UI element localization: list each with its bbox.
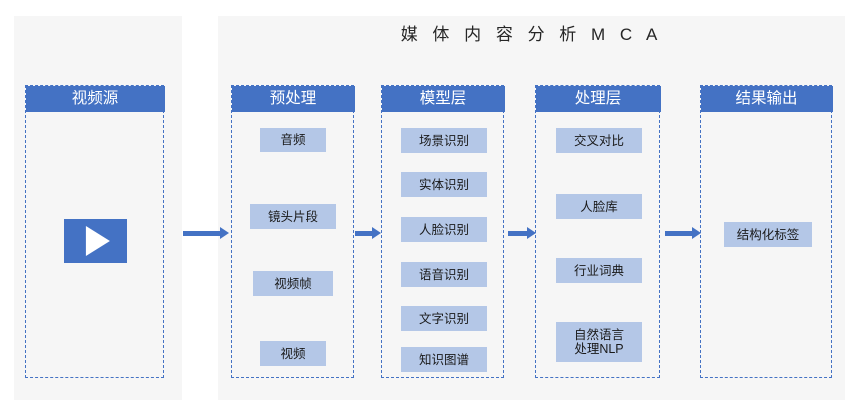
list-item[interactable]: 视频帧 xyxy=(253,271,333,296)
list-item[interactable]: 文字识别 xyxy=(401,306,487,331)
arrow-head-icon xyxy=(527,227,536,239)
column-process-layer[interactable]: 处理层 交叉对比 人脸库 行业词典 自然语言 处理NLP xyxy=(535,85,660,378)
list-item[interactable]: 结构化标签 xyxy=(724,222,812,247)
arrow-preprocess-to-model-layer xyxy=(355,227,381,239)
diagram-canvas: 媒 体 内 容 分 析 M C A 视频源 预处理 音频 镜头片段 视频帧 视频… xyxy=(0,0,859,411)
column-header-video-source: 视频源 xyxy=(26,86,165,112)
diagram-title: 媒 体 内 容 分 析 M C A xyxy=(218,20,845,45)
list-item[interactable]: 音频 xyxy=(260,128,326,152)
arrow-model-layer-to-process-layer xyxy=(508,227,536,239)
play-triangle-icon xyxy=(85,226,109,256)
arrow-shaft xyxy=(665,231,692,236)
arrow-shaft xyxy=(355,231,372,236)
list-item[interactable]: 人脸库 xyxy=(556,194,642,219)
column-header-result-output: 结果输出 xyxy=(701,86,833,112)
play-icon[interactable] xyxy=(64,219,127,263)
arrow-video-source-to-preprocess xyxy=(183,227,229,239)
column-header-model-layer: 模型层 xyxy=(382,86,505,112)
arrow-head-icon xyxy=(692,227,701,239)
list-item[interactable]: 交叉对比 xyxy=(556,128,642,153)
list-item[interactable]: 知识图谱 xyxy=(401,347,487,372)
arrow-shaft xyxy=(183,231,220,236)
column-header-preprocess: 预处理 xyxy=(232,86,355,112)
arrow-process-layer-to-result-output xyxy=(665,227,701,239)
column-header-process-layer: 处理层 xyxy=(536,86,661,112)
list-item[interactable]: 场景识别 xyxy=(401,128,487,153)
list-item[interactable]: 实体识别 xyxy=(401,172,487,197)
list-item[interactable]: 行业词典 xyxy=(556,258,642,283)
list-item[interactable]: 人脸识别 xyxy=(401,217,487,242)
column-preprocess[interactable]: 预处理 音频 镜头片段 视频帧 视频 xyxy=(231,85,354,378)
list-item[interactable]: 自然语言 处理NLP xyxy=(556,322,642,362)
arrow-shaft xyxy=(508,231,527,236)
arrow-head-icon xyxy=(220,227,229,239)
arrow-head-icon xyxy=(372,227,381,239)
list-item[interactable]: 镜头片段 xyxy=(250,204,336,229)
column-video-source[interactable]: 视频源 xyxy=(25,85,164,378)
list-item[interactable]: 视频 xyxy=(260,341,326,366)
list-item[interactable]: 语音识别 xyxy=(401,262,487,287)
column-result-output[interactable]: 结果输出 结构化标签 xyxy=(700,85,832,378)
column-model-layer[interactable]: 模型层 场景识别 实体识别 人脸识别 语音识别 文字识别 知识图谱 xyxy=(381,85,504,378)
